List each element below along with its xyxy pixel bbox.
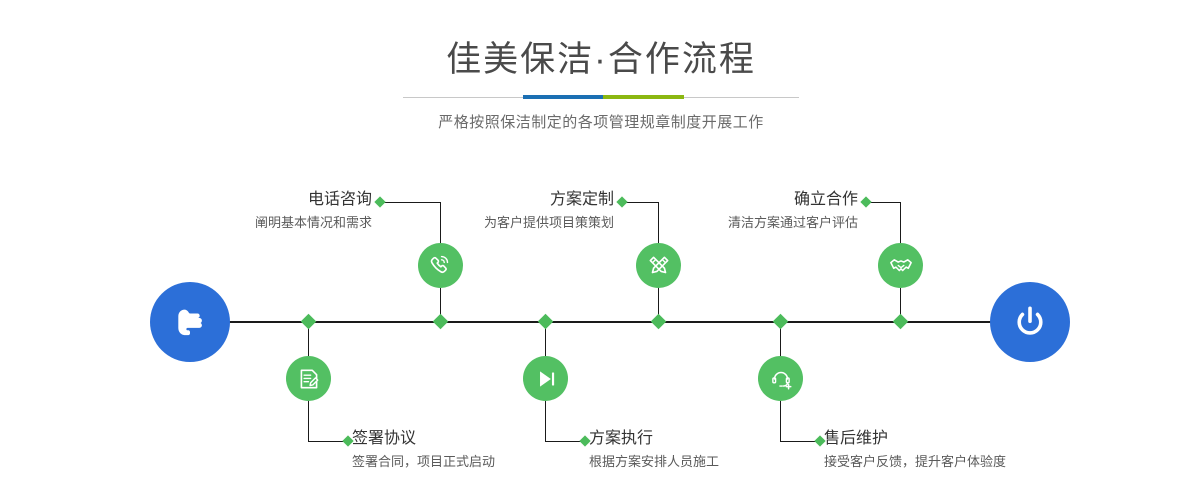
axis-diamond-step-1 xyxy=(433,314,449,330)
step-title-5: 确立合作 xyxy=(636,190,858,210)
cooperation-process-infographic: 佳美保洁·合作流程 严格按照保洁制定的各项管理规章制度开展工作 电话 xyxy=(0,0,1202,502)
connector-horizontal-step-4 xyxy=(545,441,583,442)
step-desc-3: 为客户提供项目策策划 xyxy=(392,213,614,233)
step-icon-3[interactable] xyxy=(636,243,681,288)
contract-signing-icon xyxy=(296,366,322,392)
timeline-end-node[interactable] xyxy=(990,282,1070,362)
divider-blue-segment xyxy=(523,95,603,99)
connector-vertical-step-2 xyxy=(308,399,309,441)
timeline-start-node[interactable] xyxy=(150,282,230,362)
connector-vertical-step-6 xyxy=(780,399,781,441)
pencil-ruler-icon xyxy=(646,253,672,279)
connector-horizontal-step-6 xyxy=(780,441,818,442)
step-label-5: 确立合作 清洁方案通过客户评估 xyxy=(636,190,858,233)
step-icon-6[interactable] xyxy=(758,356,803,401)
step-desc-6: 接受客户反馈，提升客户体验度 xyxy=(824,452,1094,472)
title-divider xyxy=(403,93,799,103)
step-icon-4[interactable] xyxy=(523,356,568,401)
step-icon-2[interactable] xyxy=(286,356,331,401)
play-execute-icon xyxy=(533,366,559,392)
handshake-icon xyxy=(887,252,914,279)
label-marker-step-1 xyxy=(374,196,385,207)
step-title-6: 售后维护 xyxy=(824,429,1094,449)
step-title-3: 方案定制 xyxy=(392,190,614,210)
step-label-3: 方案定制 为客户提供项目策策划 xyxy=(392,190,614,233)
thumbs-up-icon xyxy=(168,300,212,344)
step-label-6: 售后维护 接受客户反馈，提升客户体验度 xyxy=(824,429,1094,472)
customer-service-add-icon xyxy=(768,366,794,392)
axis-diamond-step-2 xyxy=(301,314,317,330)
step-desc-1: 阐明基本情况和需求 xyxy=(150,213,372,233)
header: 佳美保洁·合作流程 严格按照保洁制定的各项管理规章制度开展工作 xyxy=(0,0,1202,132)
divider-green-segment xyxy=(603,95,684,99)
step-label-1: 电话咨询 阐明基本情况和需求 xyxy=(150,190,372,233)
page-subtitle: 严格按照保洁制定的各项管理规章制度开展工作 xyxy=(0,103,1202,132)
phone-call-icon xyxy=(428,253,454,279)
connector-vertical-step-4 xyxy=(545,399,546,441)
step-title-1: 电话咨询 xyxy=(150,190,372,210)
step-desc-2: 签署合同，项目正式启动 xyxy=(352,452,602,472)
step-title-4: 方案执行 xyxy=(589,429,839,449)
power-icon xyxy=(1007,299,1053,345)
label-marker-step-3 xyxy=(616,196,627,207)
axis-diamond-step-4 xyxy=(538,314,554,330)
step-title-2: 签署协议 xyxy=(352,429,602,449)
label-marker-step-5 xyxy=(860,196,871,207)
axis-diamond-step-6 xyxy=(773,314,789,330)
axis-diamond-step-5 xyxy=(893,314,909,330)
step-label-4: 方案执行 根据方案安排人员施工 xyxy=(589,429,839,472)
step-icon-5[interactable] xyxy=(878,243,923,288)
timeline-axis xyxy=(226,321,996,323)
step-label-2: 签署协议 签署合同，项目正式启动 xyxy=(352,429,602,472)
axis-diamond-step-3 xyxy=(651,314,667,330)
step-icon-1[interactable] xyxy=(418,243,463,288)
page-title: 佳美保洁·合作流程 xyxy=(0,0,1202,82)
step-desc-4: 根据方案安排人员施工 xyxy=(589,452,839,472)
step-desc-5: 清洁方案通过客户评估 xyxy=(636,213,858,233)
connector-vertical-step-5 xyxy=(900,202,901,244)
connector-horizontal-step-2 xyxy=(308,441,346,442)
